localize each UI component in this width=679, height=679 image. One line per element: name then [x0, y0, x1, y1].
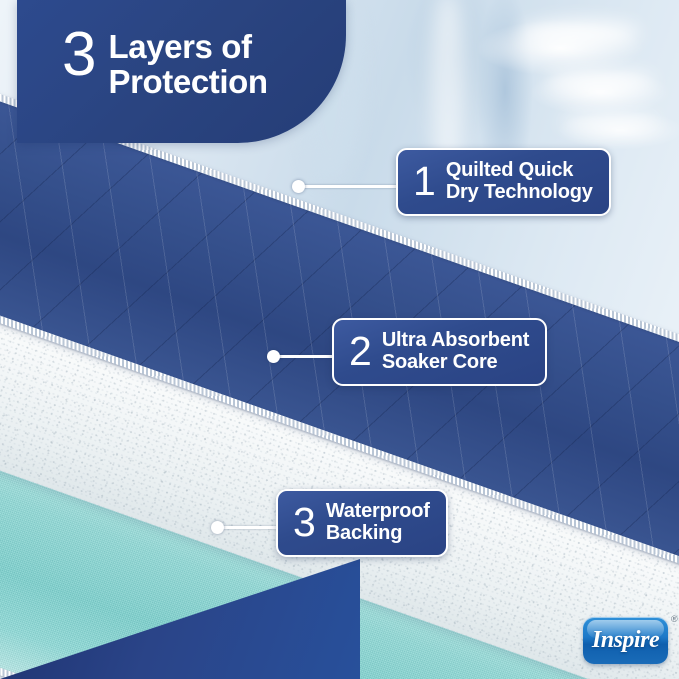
leader-dot-1 [292, 180, 305, 193]
title-line-2: Protection [108, 63, 267, 100]
leader-dot-2 [267, 350, 280, 363]
callout-1-label: Quilted Quick Dry Technology [446, 159, 593, 204]
infographic-canvas: 3 Layers of Protection 1 Quilted Quick D… [0, 0, 679, 679]
background-light-streak [545, 70, 655, 92]
callout-3-number: 3 [293, 502, 315, 543]
callout-1[interactable]: 1 Quilted Quick Dry Technology [396, 148, 611, 216]
callout-2[interactable]: 2 Ultra Absorbent Soaker Core [332, 318, 547, 386]
callout-3-label: Waterproof Backing [326, 500, 430, 545]
callout-2-label: Ultra Absorbent Soaker Core [382, 329, 529, 374]
background-light-streak [560, 112, 660, 132]
title-number: 3 [62, 26, 95, 85]
page-title: 3 Layers of Protection [62, 26, 268, 100]
title-line-1: Layers of [108, 28, 251, 65]
leader-line-1 [298, 185, 400, 188]
callout-3[interactable]: 3 Waterproof Backing [276, 489, 448, 557]
callout-2-number: 2 [349, 331, 371, 372]
callout-1-number: 1 [413, 161, 435, 202]
brand-logo-text: Inspire [592, 627, 659, 654]
leader-line-3 [218, 526, 280, 529]
registered-trademark-icon: ® [671, 614, 678, 624]
background-light-streak [520, 20, 640, 46]
brand-logo[interactable]: Inspire [583, 617, 668, 664]
title-banner: 3 Layers of Protection [17, 0, 346, 143]
leader-dot-3 [211, 521, 224, 534]
title-label: Layers of Protection [108, 26, 267, 100]
leader-line-2 [274, 355, 336, 358]
